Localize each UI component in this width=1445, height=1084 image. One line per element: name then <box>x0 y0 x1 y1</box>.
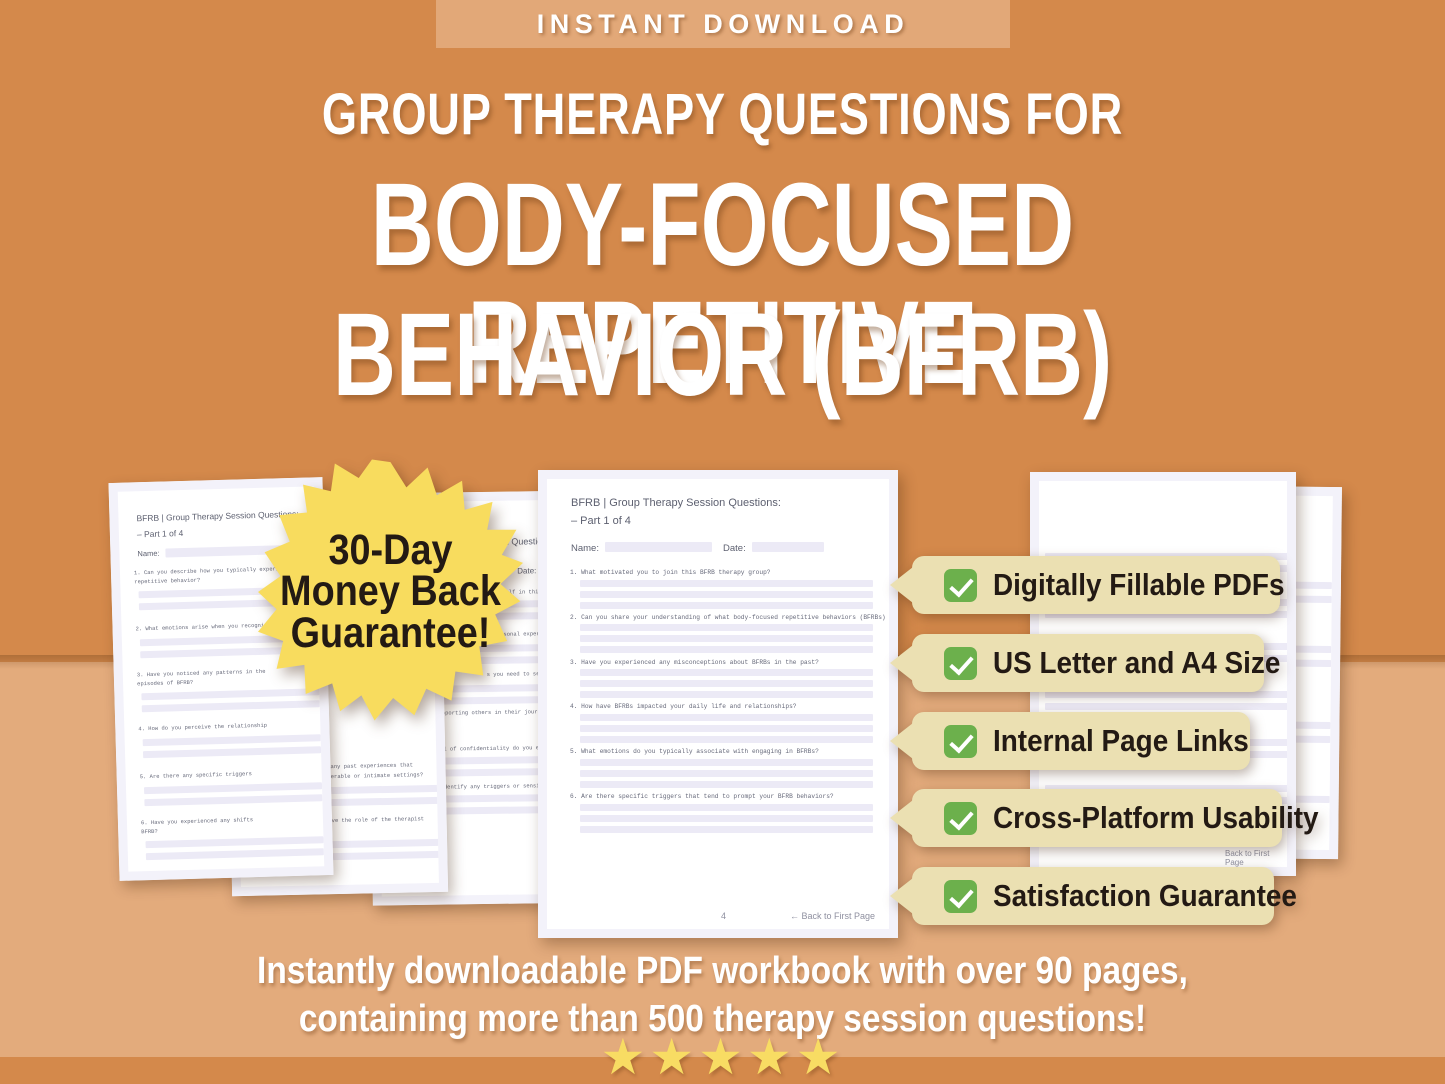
feature-label: Internal Page Links <box>993 723 1249 759</box>
check-icon <box>944 802 977 835</box>
answer-line[interactable] <box>580 691 873 698</box>
center-doc-name-field[interactable] <box>605 542 712 552</box>
center-doc-back-link[interactable]: ← Back to First Page <box>790 911 875 921</box>
center-doc-question-5: 5. What emotions do you typically associ… <box>570 748 819 755</box>
answer-line[interactable] <box>580 624 873 631</box>
answer-line[interactable] <box>580 759 873 766</box>
instant-download-label: INSTANT DOWNLOAD <box>537 9 909 40</box>
center-doc-question-3: 3. Have you experienced any misconceptio… <box>570 659 819 666</box>
badge-line-1: 30-Day <box>328 530 452 571</box>
left-doc-subtitle: – Part 1 of 4 <box>137 528 184 539</box>
instant-download-banner: INSTANT DOWNLOAD <box>436 0 1010 48</box>
poster-canvas: INSTANT DOWNLOAD GROUP THERAPY QUESTIONS… <box>0 0 1445 1084</box>
feature-callout-cross-platform-usability[interactable]: Cross-Platform Usability <box>912 789 1282 847</box>
feature-label: Satisfaction Guarantee <box>993 878 1297 914</box>
center-doc-name-label: Name: <box>571 543 599 554</box>
feature-callout-satisfaction-guarantee[interactable]: Satisfaction Guarantee <box>912 867 1274 925</box>
answer-line[interactable] <box>580 669 873 676</box>
answer-line[interactable] <box>580 646 873 653</box>
center-doc-question-4: 4. How have BFRBs impacted your daily li… <box>570 703 797 710</box>
answer-line[interactable] <box>580 680 873 687</box>
footer-line-1: Instantly downloadable PDF workbook with… <box>87 952 1359 990</box>
answer-line[interactable] <box>580 635 873 642</box>
feature-callout-digitally-fillable-pdfs[interactable]: Digitally Fillable PDFs <box>912 556 1280 614</box>
left-doc-question-1b: repetitive behavior? <box>134 577 200 586</box>
left-doc-question-6: 6. Have you experienced any shifts <box>141 816 253 826</box>
center-doc-question-2: 2. Can you share your understanding of w… <box>570 614 889 621</box>
feature-callout-us-letter-and-a4-size[interactable]: US Letter and A4 Size <box>912 634 1264 692</box>
left-doc-question-3b: episodes of BFRB? <box>137 679 193 688</box>
check-icon <box>944 569 977 602</box>
document-page-center: BFRB | Group Therapy Session Questions: … <box>538 470 898 938</box>
feature-label: US Letter and A4 Size <box>993 645 1280 681</box>
right-doc-back-link[interactable]: Back to First Page <box>1225 849 1287 867</box>
badge-text-block: 30-Day Money Back Guarantee! <box>258 458 523 726</box>
feature-callout-internal-page-links[interactable]: Internal Page Links <box>912 712 1250 770</box>
left-doc-question-2: 2. What emotions arise when you recogniz… <box>135 622 270 633</box>
center-doc-title: BFRB | Group Therapy Session Questions: <box>571 497 781 509</box>
check-icon <box>944 725 977 758</box>
answer-line[interactable] <box>580 826 873 833</box>
answer-line[interactable] <box>580 770 873 777</box>
answer-line[interactable] <box>580 736 873 743</box>
left-doc-name-label: Name: <box>137 549 159 559</box>
badge-line-3: Guarantee! <box>291 613 491 654</box>
money-back-guarantee-badge: 30-Day Money Back Guarantee! <box>258 458 523 726</box>
feature-label: Cross-Platform Usability <box>993 800 1319 836</box>
left-doc-question-5: 5. Are there any specific triggers <box>140 770 252 780</box>
footer-description: Instantly downloadable PDF workbook with… <box>0 952 1445 1038</box>
answer-line[interactable] <box>580 591 873 598</box>
badge-line-2: Money Back <box>280 571 501 612</box>
center-doc-date-field[interactable] <box>752 542 824 552</box>
check-icon <box>944 647 977 680</box>
center-doc-subtitle: – Part 1 of 4 <box>571 515 631 527</box>
headline-line-2: BEHAVIOR (BFRB) <box>188 296 1257 414</box>
check-icon <box>944 880 977 913</box>
answer-line[interactable] <box>580 815 873 822</box>
answer-line[interactable] <box>580 781 873 788</box>
center-doc-page-number: 4 <box>721 911 726 921</box>
center-doc-date-label: Date: <box>723 543 746 554</box>
left-doc-question-3: 3. Have you noticed any patterns in the <box>137 668 266 679</box>
center-doc-question-6: 6. Are there specific triggers that tend… <box>570 793 834 800</box>
answer-line[interactable] <box>580 580 873 587</box>
star-rating: ★★★★★ <box>0 1032 1445 1082</box>
feature-label: Digitally Fillable PDFs <box>993 567 1284 603</box>
center-doc-question-1: 1. What motivated you to join this BFRB … <box>570 569 771 576</box>
headline-eyebrow: GROUP THERAPY QUESTIONS FOR <box>159 86 1286 144</box>
left-doc-question-6b: BFRB? <box>141 828 158 835</box>
answer-line[interactable] <box>580 804 873 811</box>
answer-line[interactable] <box>580 602 873 609</box>
answer-line[interactable] <box>580 714 873 721</box>
answer-line[interactable] <box>580 725 873 732</box>
left-doc-question-4: 4. How do you perceive the relationship <box>138 722 267 733</box>
